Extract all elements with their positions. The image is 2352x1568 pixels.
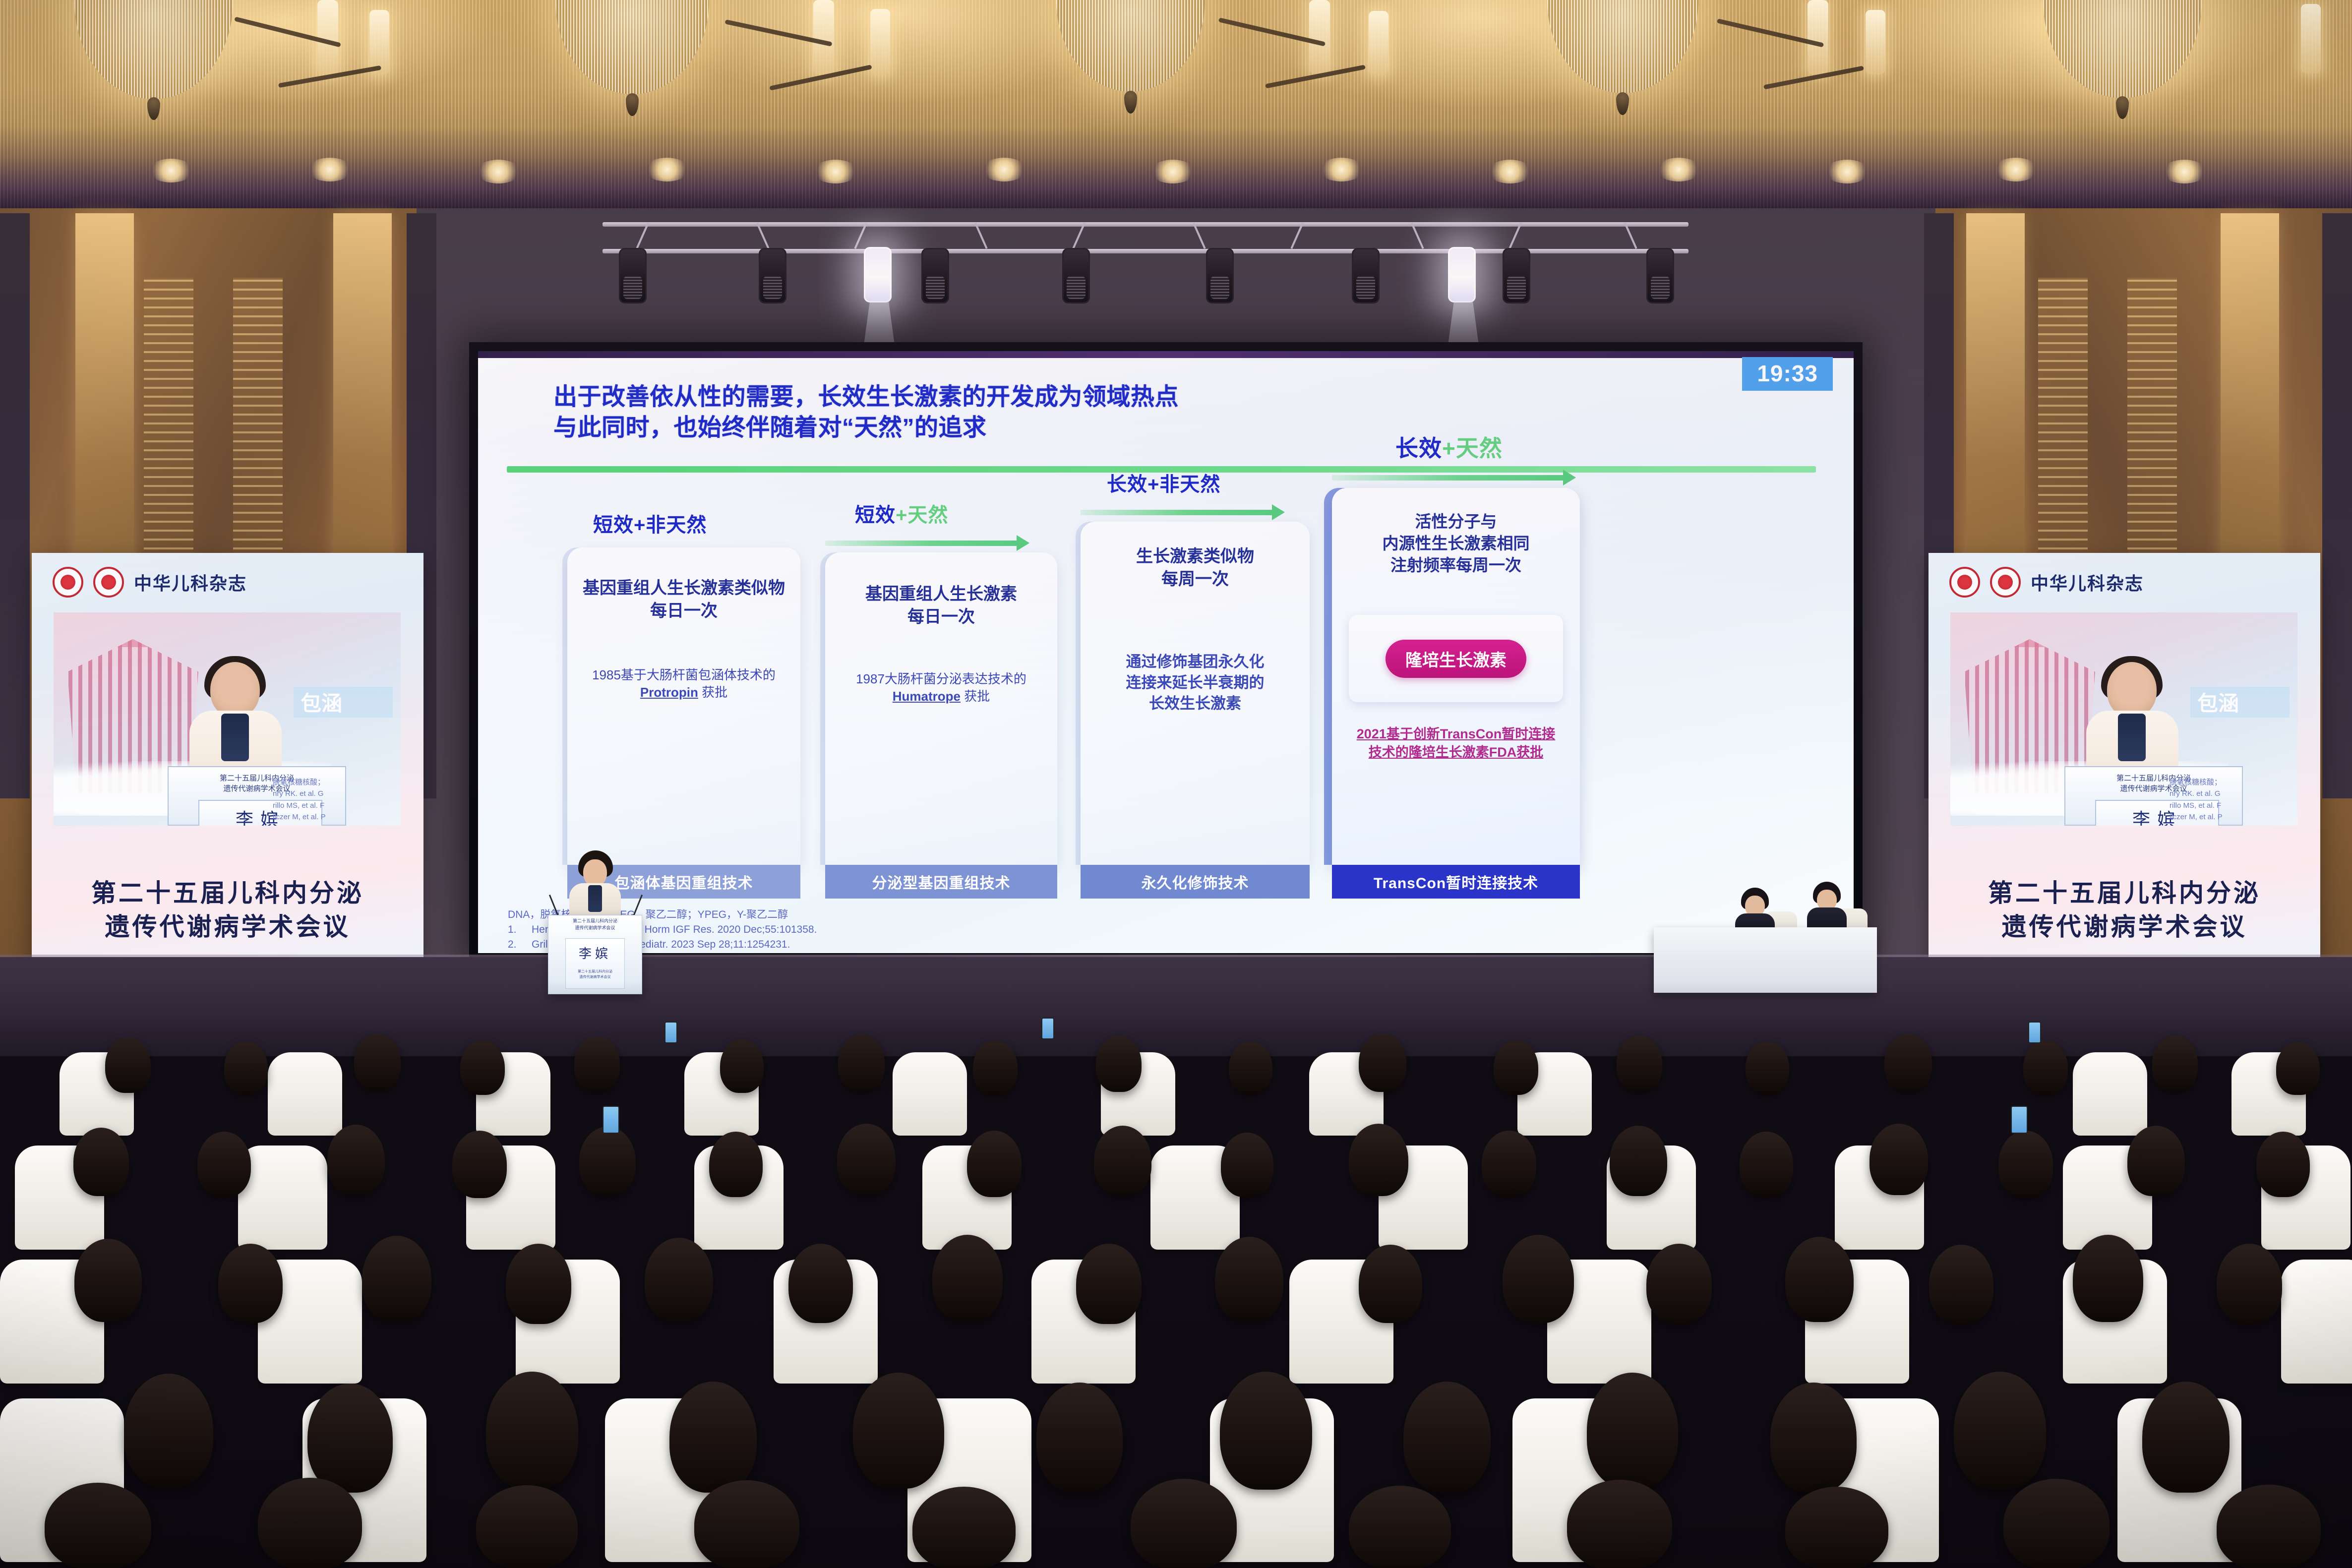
audience-head-front bbox=[45, 1483, 151, 1568]
stage-light-par bbox=[921, 248, 949, 303]
association-seal-icon bbox=[1949, 567, 1980, 598]
audience-head bbox=[1221, 1133, 1273, 1197]
column-header-1-plus: + bbox=[634, 514, 646, 536]
audience-head bbox=[837, 1124, 896, 1195]
wall-ornament-panel bbox=[2038, 278, 2088, 585]
smartphone-raised bbox=[603, 1106, 619, 1134]
audience-head-front bbox=[694, 1480, 799, 1568]
ceiling-tube-lamp bbox=[2301, 4, 2321, 73]
stage-light-par bbox=[1062, 248, 1090, 303]
moderator-right-figure bbox=[1805, 882, 1848, 931]
audience-head-front bbox=[1785, 1487, 1888, 1568]
ceiling-spot bbox=[645, 158, 689, 181]
speaker-head bbox=[210, 662, 260, 718]
featured-drug-pill: 隆培生长激素 bbox=[1386, 640, 1526, 678]
content-card-1: 基因重组人生长激素类似物 每日一次 1985基于大肠杆菌包涵体技术的 Protr… bbox=[567, 547, 800, 865]
smartphone-raised bbox=[664, 1022, 677, 1043]
audience-head bbox=[1746, 1041, 1789, 1094]
side-display-right-title: 第二十五届儿科内分泌 遗传代谢病学术会议 bbox=[1929, 876, 2320, 944]
ref-snippet: nry RK. et al. G bbox=[273, 788, 397, 799]
card-2-drug-name: Humatrope bbox=[893, 689, 961, 704]
audience-head bbox=[1403, 1382, 1491, 1493]
stage-light-par bbox=[1206, 248, 1234, 303]
truss-brace bbox=[854, 223, 867, 249]
wall-ornament-panel bbox=[2127, 278, 2177, 585]
screen-top-band bbox=[478, 351, 1854, 358]
column-header-4: 长效+天然 bbox=[1395, 430, 1503, 463]
ceiling-spot bbox=[307, 158, 352, 181]
journal-seal-icon bbox=[1990, 567, 2021, 598]
audience-head bbox=[973, 1040, 1018, 1095]
column-header-2-plus: + bbox=[896, 504, 907, 526]
conference-title-line2: 遗传代谢病学术会议 bbox=[32, 910, 423, 944]
stage-light-par bbox=[619, 248, 647, 303]
column-header-2-rest: 天然 bbox=[907, 504, 948, 526]
audience-head-front bbox=[1349, 1486, 1451, 1568]
column-header-3-blue: 长效 bbox=[1107, 474, 1147, 495]
audience-head bbox=[452, 1131, 507, 1198]
audience-head bbox=[1229, 1041, 1272, 1094]
audience-head bbox=[1503, 1235, 1574, 1323]
ceiling-tube-lamp bbox=[1309, 0, 1330, 73]
progress-arrow-3 bbox=[1332, 475, 1565, 481]
column-header-3-rest: 非天然 bbox=[1159, 474, 1220, 495]
card-1-sub-suffix: 获批 bbox=[698, 685, 727, 700]
podium-speaker-name: 李嫔 bbox=[579, 944, 611, 962]
podium-sub-line2: 遗传代谢病学术会议 bbox=[578, 974, 612, 980]
card-1-main-text: 基因重组人生长激素类似物 每日一次 bbox=[567, 577, 800, 622]
ref-snippet: 脱氧核糖核酸； bbox=[273, 777, 397, 788]
wall-ornament-panel bbox=[233, 278, 283, 585]
audience-head bbox=[2073, 1235, 2143, 1322]
podium-header-line1: 第二十五届儿科内分泌 bbox=[548, 918, 642, 925]
content-card-2: 基因重组人生长激素 每日一次 1987大肠杆菌分泌表达技术的 Humatrope… bbox=[825, 552, 1057, 865]
audience-head bbox=[1349, 1124, 1408, 1196]
audience-head bbox=[1094, 1126, 1151, 1196]
card-4-sub-prefix: 2021基于创新TransCon暂时连接 bbox=[1357, 726, 1556, 741]
card-2-sub-prefix: 1987大肠杆菌分泌表达技术的 bbox=[856, 671, 1026, 686]
ref-snippet: ilczer M, et al. P bbox=[273, 811, 397, 823]
truss-brace bbox=[636, 223, 649, 249]
footer-bar-2: 分泌型基因重组技术 bbox=[825, 865, 1057, 899]
truss-rail-top bbox=[603, 222, 1689, 227]
audience-head bbox=[1617, 1035, 1662, 1092]
audience-head bbox=[1036, 1383, 1123, 1493]
chair bbox=[2281, 1260, 2352, 1384]
wall-ornament-panel bbox=[144, 278, 193, 585]
audience-head-front bbox=[258, 1478, 362, 1568]
audience-head-front bbox=[2003, 1479, 2110, 1568]
stage-light-par-on bbox=[864, 247, 892, 302]
column-header-2: 短效+天然 bbox=[855, 499, 948, 528]
audience-head bbox=[1884, 1033, 1932, 1092]
ceiling-tube-lamp bbox=[813, 0, 834, 74]
audience-head-front bbox=[1131, 1479, 1237, 1568]
progress-arrow-1 bbox=[825, 541, 1019, 546]
audience-head bbox=[1929, 1245, 1993, 1324]
audience-head bbox=[224, 1041, 268, 1095]
column-header-1-rest: 非天然 bbox=[646, 514, 707, 536]
truss-brace bbox=[1508, 223, 1521, 249]
stage-light-par bbox=[1352, 248, 1380, 303]
conference-hall-photo: 19:33 出于改善依从性的需要，长效生长激素的开发成为领域热点 与此同时，也始… bbox=[0, 0, 2352, 1568]
audience-head bbox=[73, 1128, 129, 1196]
audience-head bbox=[720, 1039, 764, 1093]
audience-head bbox=[354, 1033, 401, 1091]
audience-head bbox=[2217, 1244, 2282, 1324]
audience-head bbox=[1220, 1372, 1312, 1490]
speaker-scarf bbox=[221, 714, 249, 761]
ceiling-spot bbox=[149, 159, 193, 182]
side-display-left: 中华儿科杂志 包涵 第二十五届儿科内分泌 遗传代谢病学术会议 李嫔 bbox=[32, 553, 423, 965]
chair bbox=[268, 1052, 342, 1136]
audience-head bbox=[853, 1373, 944, 1489]
audience-head bbox=[74, 1239, 142, 1322]
side-display-right-logos: 中华儿科杂志 bbox=[1949, 567, 2144, 598]
chair bbox=[2073, 1052, 2147, 1136]
audience-head bbox=[307, 1384, 393, 1493]
audience-head bbox=[105, 1037, 151, 1093]
card-4-main-text: 活性分子与 内源性生长激素相同 注射频率每周一次 bbox=[1332, 511, 1580, 577]
audience-head bbox=[709, 1132, 763, 1197]
audience-head-front bbox=[476, 1485, 578, 1568]
truss-brace bbox=[1411, 223, 1424, 249]
audience-head bbox=[669, 1382, 757, 1493]
audience-head bbox=[1359, 1245, 1422, 1323]
conference-title-line2: 遗传代谢病学术会议 bbox=[1929, 910, 2320, 944]
smartphone-raised bbox=[2011, 1106, 2028, 1134]
audience-head bbox=[574, 1036, 620, 1092]
card-1-drug-name: Protropin bbox=[640, 685, 698, 700]
ref-snippet: nry RK. et al. G bbox=[2170, 788, 2293, 799]
audience-head bbox=[2142, 1382, 2230, 1493]
wall-dark-column bbox=[0, 213, 30, 798]
audience-head bbox=[1740, 1132, 1793, 1197]
audience-head bbox=[197, 1132, 251, 1197]
audience-head bbox=[788, 1244, 853, 1323]
live-speaker-figure bbox=[569, 850, 621, 925]
audience-head bbox=[932, 1235, 1003, 1322]
ceiling-spot bbox=[1993, 158, 2038, 181]
audience-head bbox=[2127, 1126, 2185, 1196]
audience-head bbox=[1482, 1131, 1536, 1197]
audience-head bbox=[506, 1244, 571, 1324]
ceiling-spot bbox=[813, 160, 858, 183]
conference-title-line1: 第二十五届儿科内分泌 bbox=[1929, 876, 2320, 910]
audience-head bbox=[1076, 1244, 1142, 1324]
association-seal-icon bbox=[53, 567, 83, 598]
conference-title-line1: 第二十五届儿科内分泌 bbox=[32, 876, 423, 910]
ref-snippet: ilczer M, et al. P bbox=[2170, 811, 2293, 823]
audience-head bbox=[1870, 1124, 1928, 1195]
audience-head-front bbox=[2217, 1485, 2321, 1568]
ceiling-tube-lamp bbox=[870, 9, 890, 74]
audience-head bbox=[1359, 1033, 1406, 1092]
side-display-left-logos: 中华儿科杂志 bbox=[53, 567, 247, 598]
audience-head bbox=[838, 1034, 885, 1092]
speaker-scarf bbox=[2118, 714, 2146, 761]
audience-head bbox=[1215, 1237, 1283, 1322]
column-header-4-blue: 长效 bbox=[1395, 435, 1442, 461]
truss-brace bbox=[1624, 223, 1637, 249]
presentation-timer: 19:33 bbox=[1742, 357, 1833, 391]
column-header-3-plus: + bbox=[1147, 474, 1159, 495]
side-display-left-title: 第二十五届儿科内分泌 遗传代谢病学术会议 bbox=[32, 876, 423, 944]
card-1-sub-text: 1985基于大肠杆菌包涵体技术的 Protropin 获批 bbox=[567, 666, 800, 702]
journal-logo-text: 中华儿科杂志 bbox=[134, 569, 247, 595]
ref-snippet: rillo MS, et al. F bbox=[273, 800, 397, 811]
ceiling-spot bbox=[1488, 160, 1532, 183]
ceiling-tube-lamp bbox=[1866, 10, 1885, 74]
stage-light-par-on bbox=[1448, 247, 1476, 302]
slide-thumb-box: 包涵 bbox=[2190, 687, 2290, 718]
audience-head-front bbox=[912, 1487, 1016, 1568]
stage-light-par bbox=[1503, 248, 1530, 303]
column-header-3: 长效+非天然 bbox=[1107, 468, 1220, 497]
speaker-head bbox=[2107, 662, 2157, 718]
smartphone-raised bbox=[2028, 1022, 2041, 1043]
video-reference-snippets: 脱氧核糖核酸； nry RK. et al. G rillo MS, et al… bbox=[2170, 777, 2293, 823]
truss-brace bbox=[756, 223, 769, 249]
podium-header-line2: 遗传代谢病学术会议 bbox=[548, 925, 642, 932]
reference-number: 1. bbox=[508, 922, 532, 937]
audience-head bbox=[460, 1040, 505, 1095]
stage-light-par bbox=[759, 248, 786, 303]
side-display-right: 中华儿科杂志 包涵 第二十五届儿科内分泌 遗传代谢病学术会议 李嫔 bbox=[1929, 553, 2320, 965]
audience-head bbox=[2256, 1132, 2310, 1197]
stage-light-par bbox=[1646, 248, 1674, 303]
ceiling-tube-lamp bbox=[317, 0, 338, 74]
audience-head bbox=[2276, 1042, 2320, 1095]
smartphone-raised bbox=[1041, 1018, 1054, 1039]
video-reference-snippets: 脱氧核糖核酸； nry RK. et al. G rillo MS, et al… bbox=[273, 777, 397, 823]
audience-head bbox=[1785, 1237, 1854, 1322]
ceiling-tube-lamp bbox=[1808, 0, 1828, 74]
live-speaker-scarf bbox=[588, 885, 602, 912]
slide-thumb-text: 包涵 bbox=[2190, 692, 2239, 715]
wall-dark-column bbox=[2322, 213, 2352, 798]
chair bbox=[893, 1052, 967, 1136]
audience-head bbox=[1770, 1383, 1857, 1493]
column-header-1-blue: 短效 bbox=[593, 514, 634, 536]
slide-title-line-1: 出于改善依从性的需要，长效生长激素的开发成为领域热点 bbox=[553, 382, 1570, 413]
ceiling-tube-lamp bbox=[1369, 11, 1388, 74]
truss-brace bbox=[1290, 223, 1303, 249]
card-3-main-text: 生长激素类似物 每周一次 bbox=[1081, 545, 1310, 591]
ceiling-spot bbox=[1825, 160, 1870, 183]
column-header-2-blue: 短效 bbox=[855, 504, 896, 526]
column-header-4-plus: + bbox=[1442, 435, 1456, 461]
audience-head bbox=[1998, 1131, 2053, 1198]
card-2-sub-suffix: 获批 bbox=[961, 689, 990, 704]
audience-head bbox=[1587, 1373, 1678, 1489]
card-4-sub-text: 2021基于创新TransCon暂时连接 技术的隆培生长激素FDA获批 bbox=[1332, 725, 1580, 761]
featured-drug-pill-wrap: 隆培生长激素 bbox=[1349, 615, 1563, 702]
audience-head bbox=[1494, 1040, 1538, 1095]
audience-head bbox=[218, 1244, 283, 1323]
podium-header-text: 第二十五届儿科内分泌 遗传代谢病学术会议 bbox=[548, 918, 642, 932]
chair bbox=[238, 1146, 327, 1250]
card-1-sub-prefix: 1985基于大肠杆菌包涵体技术的 bbox=[592, 667, 776, 682]
podium-sub-line1: 第二十五届儿科内分泌 bbox=[578, 969, 612, 974]
truss-brace bbox=[974, 223, 987, 249]
card-2-main-text: 基因重组人生长激素 每日一次 bbox=[825, 583, 1057, 628]
ceiling-spot bbox=[1319, 158, 1364, 181]
presentation-slide: 19:33 出于改善依从性的需要，长效生长激素的开发成为领域热点 与此同时，也始… bbox=[478, 351, 1854, 953]
audience-head bbox=[1096, 1035, 1142, 1092]
ceiling-spot bbox=[1656, 158, 1701, 181]
audience-head bbox=[2023, 1040, 2068, 1095]
card-2-sub-text: 1987大肠杆菌分泌表达技术的 Humatrope 获批 bbox=[825, 670, 1057, 706]
slide-thumb-text: 包涵 bbox=[294, 692, 342, 715]
column-header-1: 短效+非天然 bbox=[593, 509, 707, 538]
audience-head bbox=[1646, 1244, 1712, 1324]
side-display-left-video: 包涵 第二十五届儿科内分泌 遗传代谢病学术会议 李嫔 脱氧核糖核酸； nry R… bbox=[54, 612, 401, 826]
audience-head bbox=[2152, 1035, 2198, 1092]
slide-thumb-box: 包涵 bbox=[294, 687, 393, 718]
ref-snippet: 脱氧核糖核酸； bbox=[2170, 777, 2293, 788]
ceiling-spot bbox=[1150, 160, 1195, 183]
ref-snippet: rillo MS, et al. F bbox=[2170, 800, 2293, 811]
audience-area bbox=[0, 982, 2352, 1568]
audience-head bbox=[1954, 1372, 2046, 1490]
side-display-right-video: 包涵 第二十五届儿科内分泌 遗传代谢病学术会议 李嫔 脱氧核糖核酸； nry R… bbox=[1950, 612, 2297, 826]
content-card-4-featured: 活性分子与 内源性生长激素相同 注射频率每周一次 隆培生长激素 2021基于创新… bbox=[1332, 488, 1580, 865]
audience-head bbox=[486, 1372, 578, 1490]
audience-head bbox=[645, 1238, 713, 1322]
ceiling-spot bbox=[2162, 160, 2207, 183]
audience-head bbox=[1610, 1126, 1667, 1196]
audience-head bbox=[362, 1236, 431, 1322]
audience-head-front bbox=[1567, 1480, 1672, 1568]
reference-number: 3. bbox=[508, 952, 532, 953]
podium-subtitle: 第二十五届儿科内分泌 遗传代谢病学术会议 bbox=[578, 969, 612, 980]
main-screen-frame: 19:33 出于改善依从性的需要，长效生长激素的开发成为领域热点 与此同时，也始… bbox=[469, 342, 1863, 962]
podium-nameplate: 李嫔 第二十五届儿科内分泌 遗传代谢病学术会议 bbox=[565, 938, 625, 989]
audience-head bbox=[327, 1125, 385, 1195]
progress-arrow-2 bbox=[1081, 510, 1274, 515]
ceiling-tube-lamp bbox=[369, 10, 389, 74]
audience-head bbox=[967, 1131, 1022, 1197]
audience-head bbox=[579, 1127, 636, 1196]
journal-seal-icon bbox=[93, 567, 124, 598]
truss-brace bbox=[1072, 223, 1085, 249]
journal-logo-text: 中华儿科杂志 bbox=[2031, 569, 2144, 595]
truss-brace bbox=[1193, 223, 1206, 249]
card-4-sub-suffix: 技术的隆培生长激素FDA获批 bbox=[1369, 745, 1544, 760]
footer-bar-3: 永久化修饰技术 bbox=[1081, 865, 1310, 899]
content-card-3: 生长激素类似物 每周一次 通过修饰基团永久化 连接来延长半衰期的 长效生长激素 bbox=[1081, 522, 1310, 865]
audience-head bbox=[124, 1374, 213, 1488]
column-header-4-rest: 天然 bbox=[1456, 435, 1503, 461]
ceiling-spot bbox=[982, 158, 1026, 181]
footer-bar-4: TransCon暂时连接技术 bbox=[1332, 865, 1580, 899]
card-3-sub-text: 通过修饰基团永久化 连接来延长半衰期的 长效生长激素 bbox=[1081, 652, 1310, 714]
reference-number: 2. bbox=[508, 937, 532, 952]
ceiling-spot bbox=[476, 160, 521, 183]
